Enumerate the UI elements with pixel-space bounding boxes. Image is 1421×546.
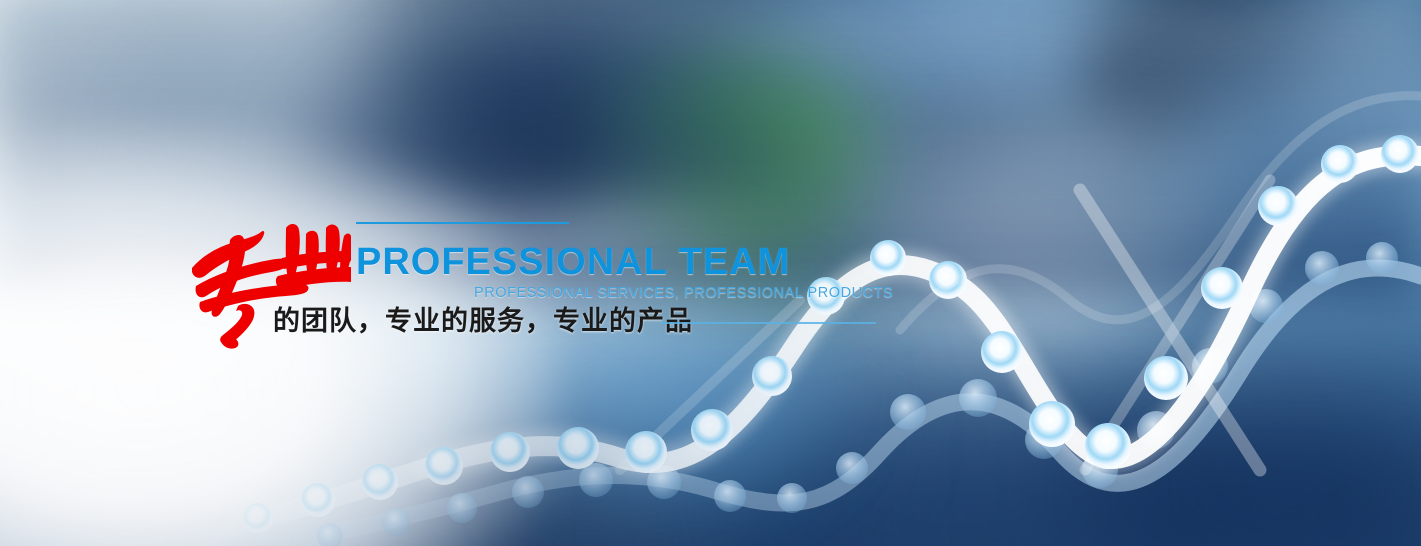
decorative-rule-bottom bbox=[660, 322, 876, 324]
hero-banner: PROFESSIONAL TEAM PROFESSIONAL SERVICES,… bbox=[0, 0, 1421, 546]
page-subtitle: PROFESSIONAL SERVICES, PROFESSIONAL PROD… bbox=[474, 286, 893, 301]
page-title-chinese: 的团队，专业的服务，专业的产品 bbox=[273, 308, 693, 335]
background-top-haze bbox=[0, 0, 1421, 220]
banner-text-group: PROFESSIONAL TEAM PROFESSIONAL SERVICES,… bbox=[0, 0, 1421, 546]
decorative-rule-top bbox=[356, 222, 569, 224]
page-title: PROFESSIONAL TEAM bbox=[356, 243, 790, 281]
background-bench-shadow bbox=[280, 0, 840, 200]
